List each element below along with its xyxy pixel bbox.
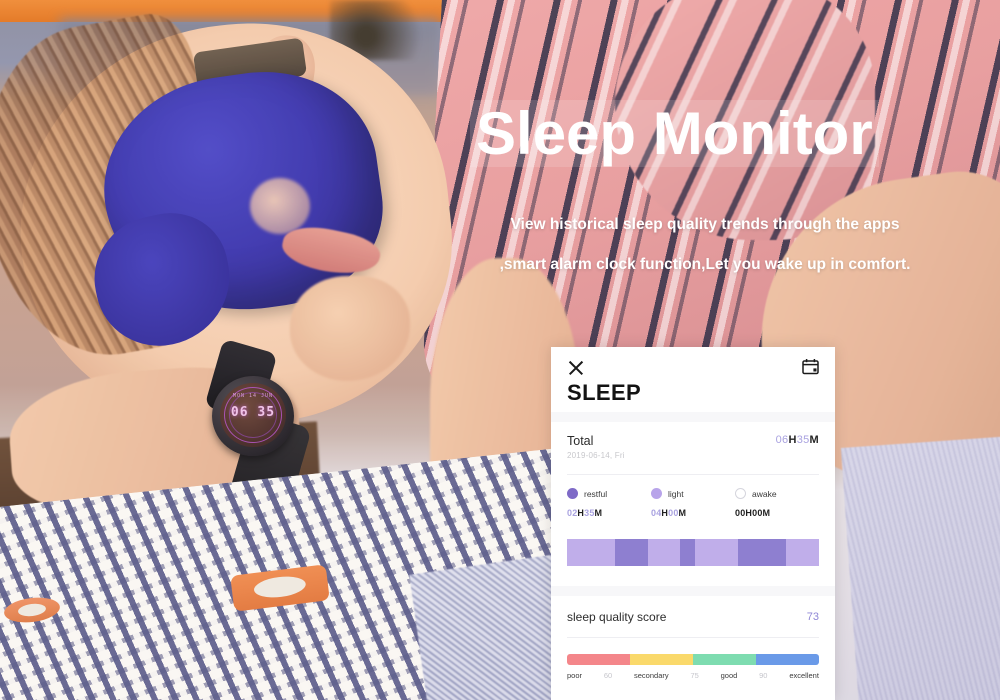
scale-label-good: good (721, 671, 738, 680)
scale-band-secondary (630, 654, 693, 665)
total-left: Total 2019-06-14, Fri (567, 434, 625, 460)
sleep-segment-restful-3 (680, 539, 695, 566)
legend-value-awake: 00H00M (735, 508, 819, 518)
stage-legend: restful 02H35M light 04H00M awake (567, 488, 819, 518)
light-m-unit: M (679, 508, 687, 518)
score-scale-bar (567, 654, 819, 665)
total-minutes: 35 (797, 434, 810, 446)
restful-dot-icon (567, 488, 578, 499)
calendar-icon[interactable] (802, 358, 819, 375)
total-row: Total 2019-06-14, Fri 06H35M (567, 434, 819, 460)
scale-band-poor (567, 654, 630, 665)
total-date: 2019-06-14, Fri (567, 451, 625, 460)
light-minutes: 00 (668, 508, 678, 518)
awake-m-unit: M (763, 508, 771, 518)
legend-item-restful[interactable]: restful 02H35M (567, 488, 651, 518)
scale-label-secondary: secondary (634, 671, 669, 680)
restful-hours: 02 (567, 508, 577, 518)
card-title: SLEEP (567, 380, 641, 406)
sleep-segment-light-4 (695, 539, 738, 566)
scale-label-excellent: excellent (789, 671, 819, 680)
legend-item-awake[interactable]: awake 00H00M (735, 488, 819, 518)
legend-head-restful: restful (567, 488, 651, 499)
legend-label-awake: awake (752, 489, 777, 499)
score-value: 73 (807, 611, 819, 623)
section-divider-mid (551, 586, 835, 596)
total-hours-unit: H (788, 434, 796, 446)
legend-value-light: 04H00M (651, 508, 735, 518)
calendar-icon-svg (802, 358, 819, 375)
awake-minutes: 00 (752, 508, 762, 518)
scale-tick-75: 75 (690, 671, 698, 680)
score-scale-labels: poor60secondary75good90excellent (567, 671, 819, 680)
sleep-segment-restful-5 (738, 539, 786, 566)
sleep-segment-light-6 (786, 539, 819, 566)
restful-minutes: 35 (584, 508, 594, 518)
total-minutes-unit: M (810, 434, 819, 446)
scale-label-poor: poor (567, 671, 582, 680)
hero-subtitle-line-1: View historical sleep quality trends thr… (470, 205, 940, 245)
scale-band-good (693, 654, 756, 665)
section-divider-top (551, 412, 835, 422)
hero-subtitle: View historical sleep quality trends thr… (470, 205, 940, 286)
close-icon[interactable] (567, 359, 585, 377)
scale-tick-90: 90 (759, 671, 767, 680)
legend-head-awake: awake (735, 488, 819, 499)
legend-item-light[interactable]: light 04H00M (651, 488, 735, 518)
awake-dot-icon (735, 488, 746, 499)
scale-band-excellent (756, 654, 819, 665)
legend-head-light: light (651, 488, 735, 499)
hero-section: Sleep Monitor View historical sleep qual… (470, 100, 970, 286)
restful-m-unit: M (595, 508, 603, 518)
legend-label-restful: restful (584, 489, 607, 499)
total-label: Total (567, 434, 625, 448)
sleep-app-card: SLEEP Total 2019-06-14, Fri 06H35M restf… (551, 347, 835, 700)
total-section: Total 2019-06-14, Fri 06H35M restful 02H… (551, 422, 835, 518)
total-value: 06H35M (776, 434, 819, 446)
sleep-segment-restful-1 (615, 539, 648, 566)
light-hours: 04 (651, 508, 661, 518)
scale-tick-60: 60 (604, 671, 612, 680)
total-hours: 06 (776, 434, 789, 446)
score-section: sleep quality score 73 (551, 596, 835, 638)
legend-value-restful: 02H35M (567, 508, 651, 518)
score-divider (567, 637, 819, 638)
score-label: sleep quality score (567, 610, 666, 624)
awake-hours: 00 (735, 508, 745, 518)
legend-label-light: light (668, 489, 684, 499)
sleep-stage-timeline[interactable] (567, 539, 819, 566)
hero-title-backdrop: Sleep Monitor (470, 100, 879, 167)
light-dot-icon (651, 488, 662, 499)
total-divider (567, 474, 819, 475)
sleep-segment-light-0 (567, 539, 615, 566)
page-title: Sleep Monitor (476, 102, 873, 165)
sleep-segment-light-2 (648, 539, 681, 566)
card-header: SLEEP (551, 347, 835, 412)
hero-subtitle-line-2: ,smart alarm clock function,Let you wake… (470, 245, 940, 285)
score-row: sleep quality score 73 (567, 610, 819, 624)
